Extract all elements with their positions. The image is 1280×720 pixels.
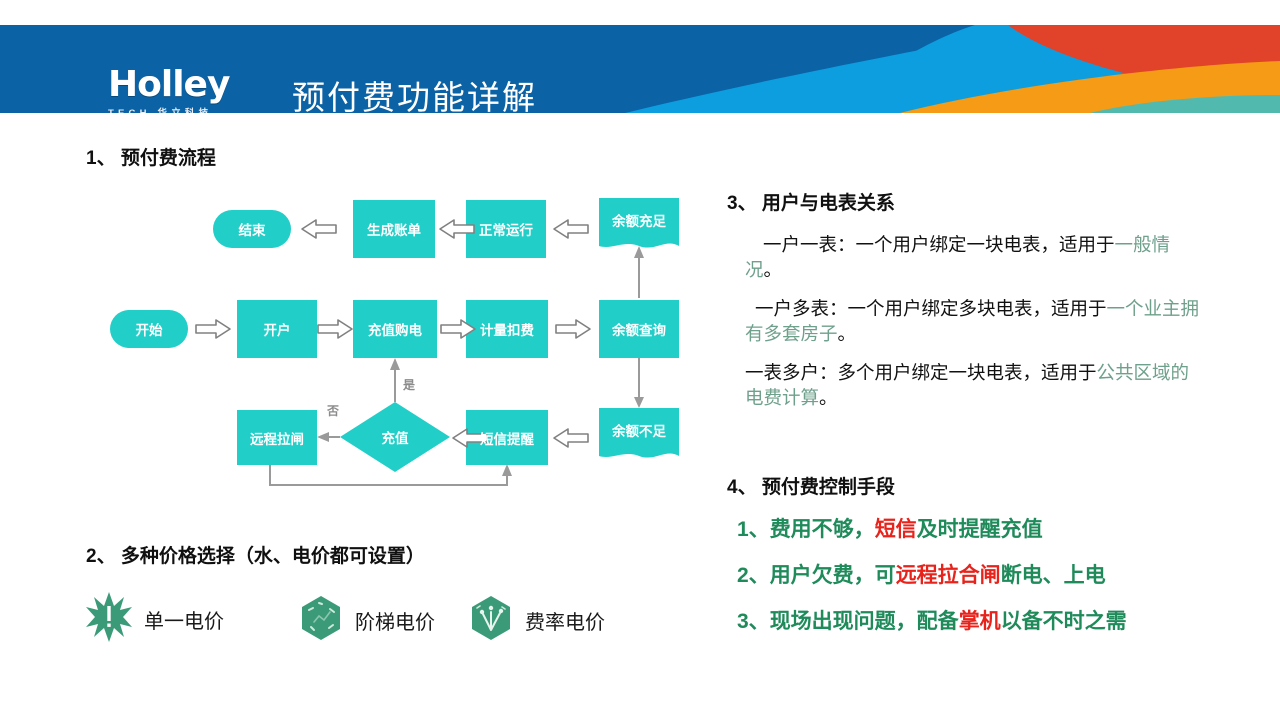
edge-label-yes: 是 [403,376,415,393]
section-4-heading: 4、 预付费控制手段 [727,472,895,499]
node-end-shape [213,210,291,248]
node-start-shape [110,310,188,348]
control-highlight: 短信 [875,518,917,541]
relation-item: 一表多户：多个用户绑定一块电表，适用于公共区域的电费计算。 [745,360,1205,410]
control-highlight: 远程拉合闸 [896,564,1001,587]
price-option-single[interactable]: 单一电价 [86,592,224,647]
user-meter-relations-list: 一户一表：一个用户绑定一块电表，适用于一般情况。 一户多表：一个用户绑定多块电表… [745,232,1205,424]
node-bill-shape [353,200,435,258]
control-highlight: 掌机 [959,610,1001,633]
node-normal-shape [466,200,546,258]
section-3-heading: 3、 用户与电表关系 [727,188,895,215]
control-text-b: 以备不时之需 [1001,610,1127,633]
control-number: 3、 [737,610,770,633]
control-item: 3、现场出现问题，配备掌机以备不时之需 [737,610,1237,634]
prepaid-control-list: 1、费用不够，短信及时提醒充值 2、用户欠费，可远程拉合闸断电、上电 3、现场出… [737,518,1237,656]
relation-text-b: 。 [764,259,783,280]
relation-item: 一户多表：一个用户绑定多块电表，适用于一个业主拥有多套房子。 [745,296,1205,346]
slide-header: Holley TECH 华立科技 预付费功能详解 [0,25,1280,113]
price-option-rate[interactable]: 费率电价 [469,594,605,647]
hexagon-icon [299,594,343,647]
section-2-heading: 2、 多种价格选择（水、电价都可设置） [86,541,425,568]
starburst-icon [86,592,132,647]
control-text-b: 断电、上电 [1001,564,1106,587]
node-recharge-diamond-shape [340,402,450,472]
relation-item: 一户一表：一个用户绑定一块电表，适用于一般情况。 [745,232,1205,282]
price-option-tiered-label: 阶梯电价 [355,606,435,635]
prepaid-flowchart: 结束 生成账单 正常运行 余额充足 开始 开户 充值购电 计量扣费 余额查询 远… [110,180,710,490]
logo-wordmark: Holley [108,67,260,103]
node-query-shape [599,300,679,358]
relation-text-a: 一表多户：多个用户绑定一块电表，适用于 [745,362,1097,383]
section-1-heading: 1、 预付费流程 [86,143,216,170]
node-openacct-shape [237,300,317,358]
control-number: 2、 [737,564,770,587]
control-text-a: 用户欠费，可 [770,564,896,587]
price-option-rate-label: 费率电价 [525,606,605,635]
control-text-a: 费用不够， [770,518,875,541]
price-options-row: 单一电价 阶梯电价 [86,592,706,648]
logo-subtitle: TECH 华立科技 [108,105,260,113]
price-option-single-label: 单一电价 [144,605,224,634]
edge-label-no: 否 [327,402,339,419]
control-number: 1、 [737,518,770,541]
page-title: 预付费功能详解 [292,71,537,113]
control-text-a: 现场出现问题，配备 [770,610,959,633]
holley-logo: Holley TECH 华立科技 [108,67,260,113]
slide-root: Holley TECH 华立科技 预付费功能详解 1、 预付费流程 2、 多种价… [0,0,1280,720]
relation-text-a: 一户一表：一个用户绑定一块电表，适用于 [763,234,1115,255]
node-notenough-shape [599,408,679,458]
control-item: 2、用户欠费，可远程拉合闸断电、上电 [737,564,1237,588]
relation-text-b: 。 [838,323,857,344]
control-item: 1、费用不够，短信及时提醒充值 [737,518,1237,542]
price-option-tiered[interactable]: 阶梯电价 [299,594,435,647]
node-metering-shape [466,300,548,358]
node-enough-shape [599,198,679,248]
node-remote-shape [237,410,317,465]
relation-text-b: 。 [819,387,838,408]
control-text-b: 及时提醒充值 [917,518,1043,541]
hexagon-icon [469,594,513,647]
node-recharge-buy-shape [353,300,437,358]
relation-text-a: 一户多表：一个用户绑定多块电表，适用于 [755,298,1107,319]
flowchart-graphic [110,180,710,490]
